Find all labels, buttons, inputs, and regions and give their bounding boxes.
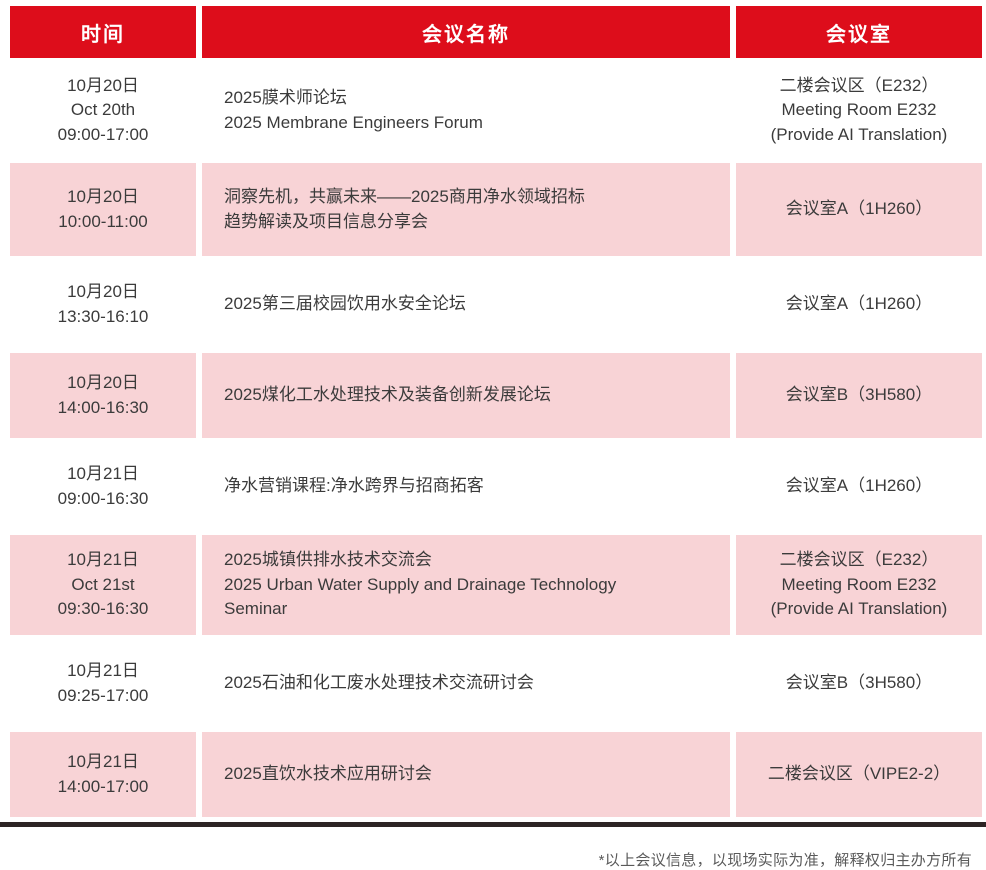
cell-meeting-name: 2025石油和化工废水处理技术交流研讨会 [202,641,730,726]
cell-time: 10月20日 13:30-16:10 [10,262,196,347]
cell-meeting-room: 二楼会议区（VIPE2-2） [736,732,982,817]
table-row: 10月20日 14:00-16:302025煤化工水处理技术及装备创新发展论坛会… [10,353,976,438]
cell-meeting-name: 洞察先机，共赢未来——2025商用净水领域招标 趋势解读及项目信息分享会 [202,163,730,256]
cell-meeting-name: 净水营销课程:净水跨界与招商拓客 [202,444,730,529]
cell-meeting-name: 2025第三届校园饮用水安全论坛 [202,262,730,347]
table-row: 10月21日 Oct 21st 09:30-16:302025城镇供排水技术交流… [10,535,976,635]
cell-meeting-name: 2025膜术师论坛 2025 Membrane Engineers Forum [202,64,730,157]
cell-meeting-room: 会议室B（3H580） [736,641,982,726]
cell-time: 10月21日 14:00-17:00 [10,732,196,817]
cell-meeting-name: 2025直饮水技术应用研讨会 [202,732,730,817]
table-row: 10月20日 13:30-16:102025第三届校园饮用水安全论坛会议室A（1… [10,262,976,347]
table-body: 10月20日 Oct 20th 09:00-17:002025膜术师论坛 202… [10,64,976,817]
table-row: 10月20日 Oct 20th 09:00-17:002025膜术师论坛 202… [10,64,976,157]
table-header-row: 时间 会议名称 会议室 [10,6,976,58]
cell-meeting-room: 会议室B（3H580） [736,353,982,438]
cell-time: 10月20日 14:00-16:30 [10,353,196,438]
cell-meeting-room: 会议室A（1H260） [736,262,982,347]
cell-time: 10月20日 10:00-11:00 [10,163,196,256]
cell-meeting-room: 二楼会议区（E232） Meeting Room E232 (Provide A… [736,535,982,635]
cell-meeting-room: 会议室A（1H260） [736,163,982,256]
cell-meeting-room: 会议室A（1H260） [736,444,982,529]
table-row: 10月21日 09:00-16:30净水营销课程:净水跨界与招商拓客会议室A（1… [10,444,976,529]
table-row: 10月21日 14:00-17:002025直饮水技术应用研讨会二楼会议区（VI… [10,732,976,817]
column-header-meeting-name: 会议名称 [202,6,730,58]
cell-meeting-name: 2025煤化工水处理技术及装备创新发展论坛 [202,353,730,438]
table-row: 10月20日 10:00-11:00洞察先机，共赢未来——2025商用净水领域招… [10,163,976,256]
cell-time: 10月21日 09:00-16:30 [10,444,196,529]
table-row: 10月21日 09:25-17:002025石油和化工废水处理技术交流研讨会会议… [10,641,976,726]
column-header-time: 时间 [10,6,196,58]
cell-time: 10月21日 Oct 21st 09:30-16:30 [10,535,196,635]
footer-disclaimer-note: *以上会议信息，以现场实际为准，解释权归主办方所有 [0,827,986,870]
conference-schedule-table: 时间 会议名称 会议室 10月20日 Oct 20th 09:00-17:002… [0,0,986,817]
column-header-meeting-room: 会议室 [736,6,982,58]
cell-time: 10月21日 09:25-17:00 [10,641,196,726]
cell-meeting-room: 二楼会议区（E232） Meeting Room E232 (Provide A… [736,64,982,157]
cell-time: 10月20日 Oct 20th 09:00-17:00 [10,64,196,157]
cell-meeting-name: 2025城镇供排水技术交流会 2025 Urban Water Supply a… [202,535,730,635]
